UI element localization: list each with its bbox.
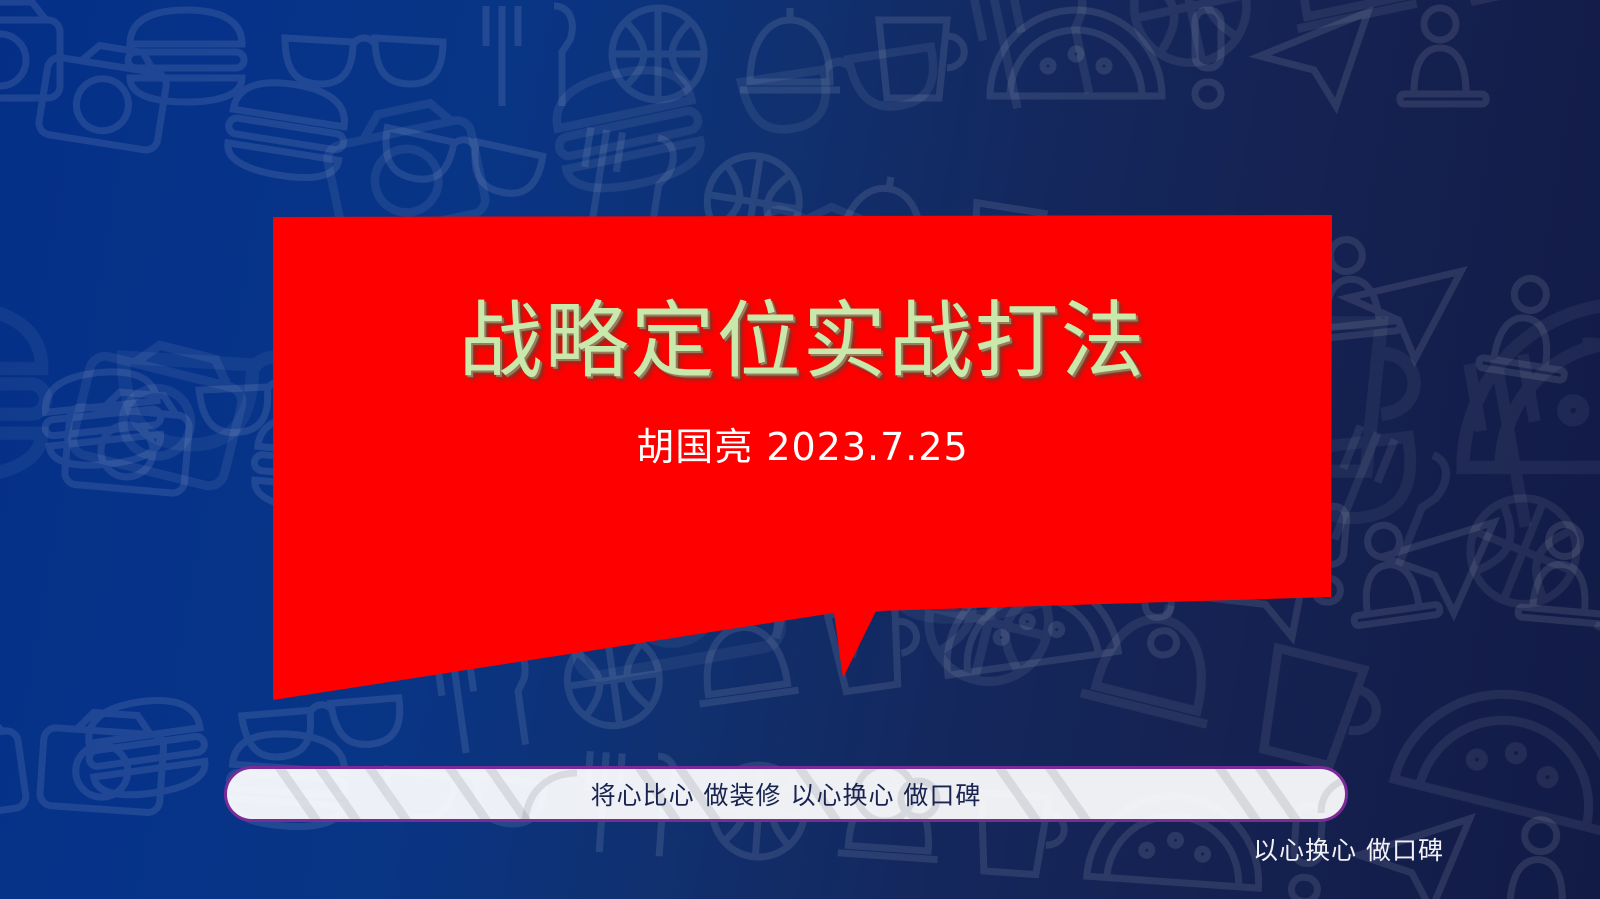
title-block: 战略定位实战打法 胡国亮 2023.7.25 [273,217,1332,617]
presenter-and-date: 胡国亮 2023.7.25 [636,427,968,469]
page-title: 战略定位实战打法 [458,299,1146,383]
banner-slogan-text: 将心比心 做装修 以心换心 做口碑 [591,776,982,812]
footer-slogan: 以心换心 做口碑 [1253,831,1444,867]
slogan-banner: 将心比心 做装修 以心换心 做口碑 [224,766,1348,822]
presentation-slide: 战略定位实战打法 胡国亮 2023.7.25 [0,0,1600,899]
